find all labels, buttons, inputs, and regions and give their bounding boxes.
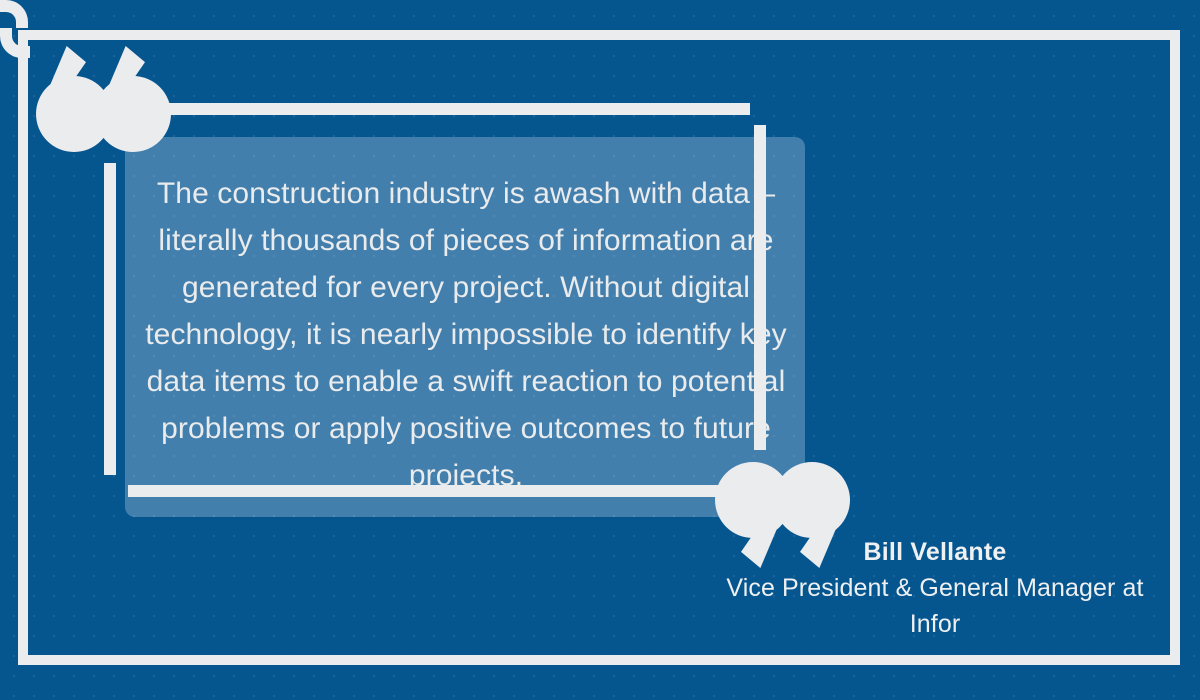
outline-top-right-corner	[0, 0, 28, 28]
close-quote-icon-ball	[774, 462, 850, 538]
outline-top-segment	[160, 103, 750, 115]
attribution: Bill Vellante Vice President & General M…	[700, 534, 1170, 642]
attribution-role: Vice President & General Manager at Info…	[700, 570, 1170, 642]
outline-left-segment	[104, 163, 116, 475]
open-quote-icon	[95, 44, 171, 152]
quote-card: The construction industry is awash with …	[0, 0, 1200, 700]
quote-text: The construction industry is awash with …	[130, 170, 802, 499]
attribution-name: Bill Vellante	[700, 534, 1170, 570]
open-quote-icon-ball	[95, 76, 171, 152]
